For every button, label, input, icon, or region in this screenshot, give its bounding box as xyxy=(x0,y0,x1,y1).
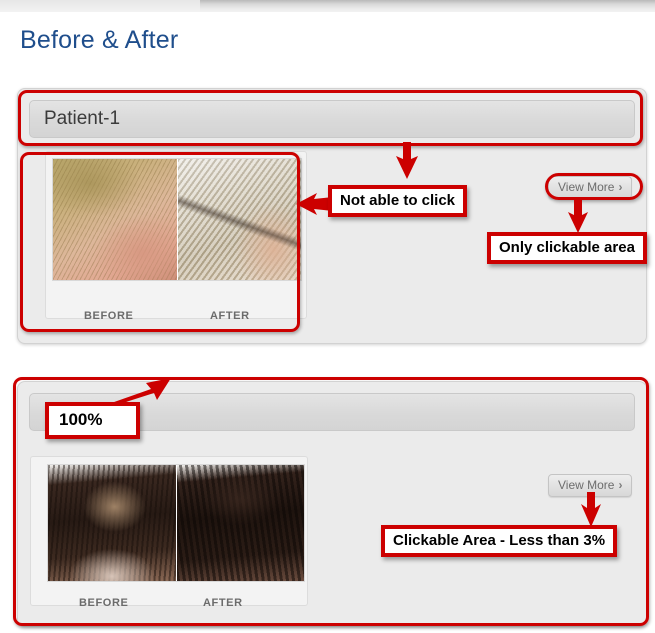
annotation-label-clickable-area-percent: Clickable Area - Less than 3% xyxy=(381,525,617,557)
annotation-arrow-down-to-view-more-2 xyxy=(578,492,604,528)
annotation-label-only-clickable-area: Only clickable area xyxy=(487,232,647,264)
annotation-box-panel-1-photos xyxy=(20,152,300,332)
page-title: Before & After xyxy=(20,26,178,55)
annotation-label-not-clickable: Not able to click xyxy=(328,185,467,217)
annotation-box-panel-1-view-more xyxy=(545,173,643,200)
annotation-box-panel-1-titlebar xyxy=(18,90,643,146)
annotation-arrow-down-to-view-more-1 xyxy=(565,200,591,234)
annotation-arrow-down-to-titlebar xyxy=(392,142,422,180)
window-top-shadow-left xyxy=(0,0,200,12)
annotation-label-coverage-percent: 100% xyxy=(45,402,140,439)
